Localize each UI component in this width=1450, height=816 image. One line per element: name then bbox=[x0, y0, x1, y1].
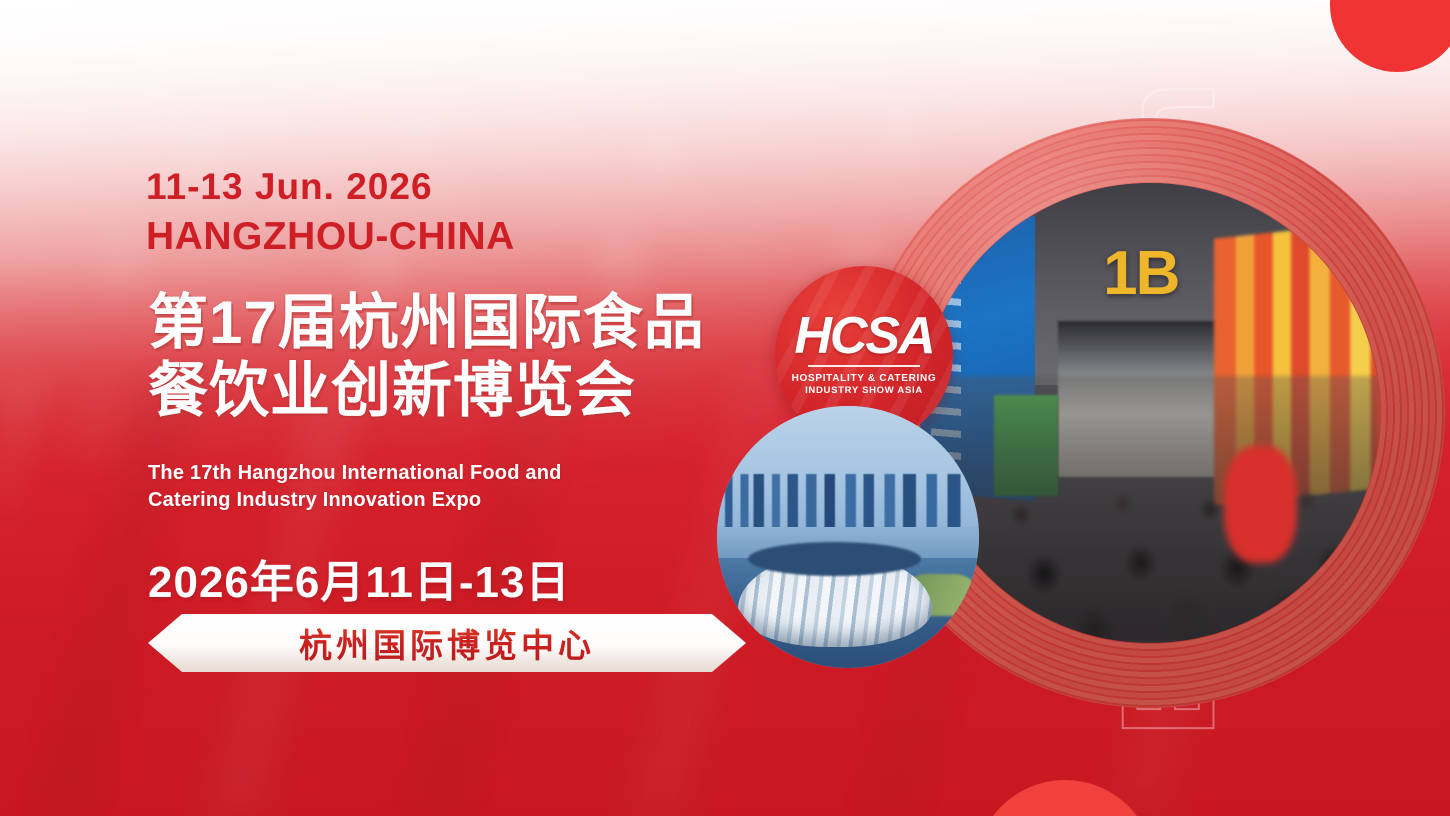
hall-number-sign: 1B bbox=[1103, 238, 1178, 309]
subtitle-english: The 17th Hangzhou International Food and… bbox=[148, 460, 562, 514]
hcsa-tagline-line1: HOSPITALITY & CATERING bbox=[792, 372, 937, 386]
logo-divider bbox=[808, 365, 920, 367]
venue-ribbon: 杭州国际博览中心 bbox=[148, 614, 746, 672]
subtitle-english-line2: Catering Industry Innovation Expo bbox=[148, 487, 562, 514]
headline-date-en: 11-13 Jun. 2026 bbox=[146, 166, 433, 208]
title-chinese-line2: 餐饮业创新博览会 bbox=[148, 357, 705, 425]
title-chinese: 第17届杭州国际食品 餐饮业创新博览会 bbox=[148, 289, 705, 426]
photo-hangzhou-stadium bbox=[717, 406, 979, 668]
venue-name-chinese: 杭州国际博览中心 bbox=[148, 614, 746, 672]
hcsa-tagline-line2: INDUSTRY SHOW ASIA bbox=[805, 385, 923, 398]
date-chinese: 2026年6月11日-13日 bbox=[148, 546, 570, 610]
subtitle-english-line1: The 17th Hangzhou International Food and bbox=[148, 460, 562, 487]
headline-city-en: HANGZHOU-CHINA bbox=[146, 215, 515, 259]
visual-cluster: 1B HCSA HOSPITALITY & CATERING INDUSTRY … bbox=[745, 78, 1435, 768]
hall-crowd bbox=[920, 376, 1380, 643]
title-chinese-line1: 第17届杭州国际食品 bbox=[148, 289, 705, 357]
city-skyline bbox=[717, 474, 979, 532]
expo-poster: Exhibition 1B HCSA HOSPITALITY & CATERIN… bbox=[0, 0, 1450, 816]
photo-exhibition-hall: 1B bbox=[920, 183, 1380, 643]
hcsa-logo-mark: HCSA bbox=[794, 312, 933, 361]
